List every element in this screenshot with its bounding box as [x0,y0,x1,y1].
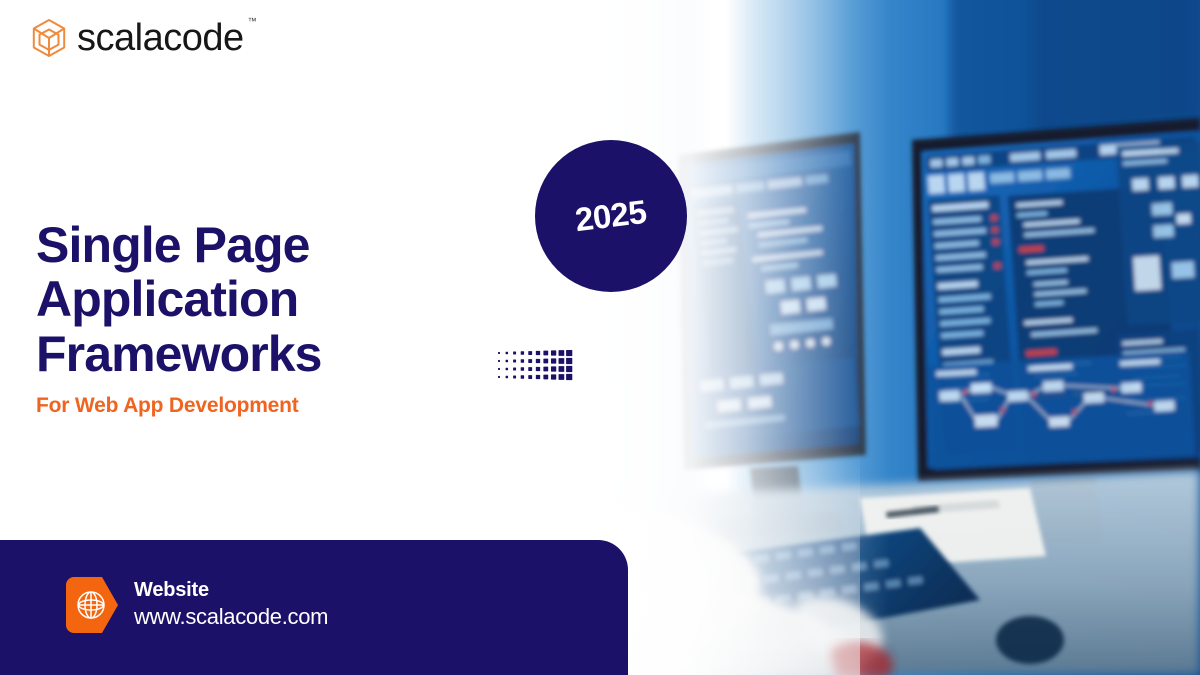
year-badge: 2025 [535,140,687,292]
globe-badge [66,577,118,633]
headline-block: Single Page Application Frameworks For W… [36,218,466,417]
footer-text-block: Website www.scalacode.com [134,578,328,631]
logo-text: scalacode [77,17,244,59]
footer-contact: Website www.scalacode.com [66,577,328,633]
page-subtitle: For Web App Development [36,394,466,417]
globe-icon [66,577,118,633]
footer-label: Website [134,578,328,603]
cube-hexagon-icon [30,18,68,58]
dot-grid-decoration [497,350,575,387]
slide-canvas: scalacode ™ Single Page Application Fram… [0,0,1200,675]
dot-grid-svg [497,350,575,382]
trademark-symbol: ™ [248,17,257,26]
footer-url[interactable]: www.scalacode.com [134,603,328,631]
brand-logo[interactable]: scalacode ™ [30,18,244,58]
hero-photo [560,0,1200,675]
title-line-2: Application [36,271,298,327]
title-line-1: Single Page [36,217,310,273]
footer-bar: Website www.scalacode.com [0,540,628,675]
title-line-3: Frameworks [36,326,322,382]
year-badge-label: 2025 [573,193,649,239]
hero-photo-illustration [560,0,1200,675]
logo-wordmark: scalacode ™ [77,19,244,57]
page-title: Single Page Application Frameworks [36,218,466,381]
